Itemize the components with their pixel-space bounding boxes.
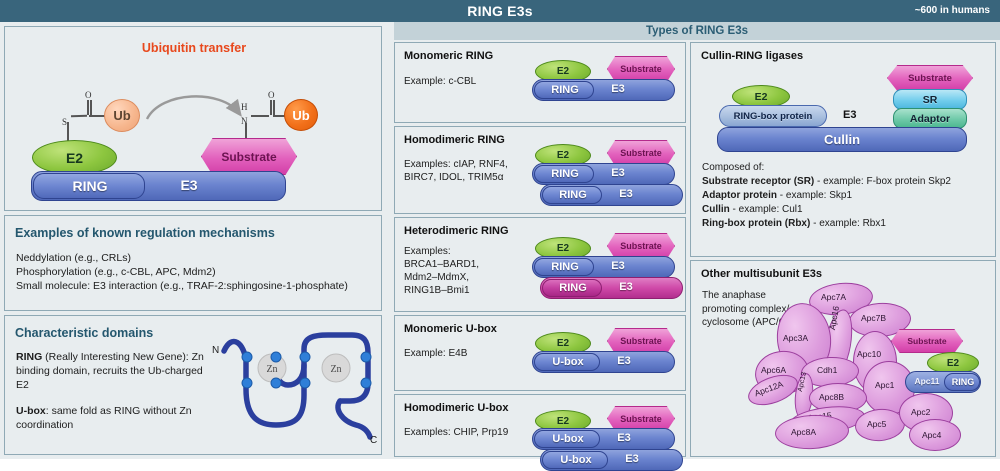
e3-bar-bottom: U-box E3 bbox=[540, 449, 683, 471]
crl-component-1: Adaptor protein - example: Skp1 bbox=[702, 189, 852, 203]
substrate-hexagon: Substrate bbox=[887, 65, 973, 91]
e3-bar-top: RING E3 bbox=[532, 256, 675, 278]
ubox-domain-cap: U-box bbox=[534, 430, 600, 448]
row-title: Monomeric U-box bbox=[404, 323, 497, 335]
row-title: Monomeric RING bbox=[404, 50, 493, 62]
body-label: E3 bbox=[599, 432, 649, 444]
apc-subunit-label: Apc7A bbox=[821, 292, 846, 302]
cullin-ring-ligases-panel: Cullin-RING ligases Substrate SR Adaptor… bbox=[690, 42, 996, 257]
page-title: RING E3s bbox=[0, 0, 1000, 22]
row-examples: Examples: CHIP, Prp19 bbox=[404, 426, 508, 439]
domains-title: Characteristic domains bbox=[15, 326, 153, 340]
component-detail: - example: Rbx1 bbox=[810, 218, 886, 229]
cap-label: U-box bbox=[543, 454, 609, 466]
regulation-item-0: Neddylation (e.g., CRLs) bbox=[16, 251, 131, 265]
bond-c-o-d bbox=[273, 100, 275, 115]
row-title: Homodimeric U-box bbox=[404, 402, 509, 414]
substrate-receptor: SR bbox=[893, 89, 967, 110]
row-examples: Example: E4B bbox=[404, 347, 467, 360]
middle-column: Monomeric RING Example: c-CBL E2 Substra… bbox=[394, 42, 686, 457]
e2-enzyme: E2 bbox=[32, 140, 117, 175]
component-detail: - example: Skp1 bbox=[777, 190, 852, 201]
type-row-monomeric-ubox: Monomeric U-box Example: E4B E2 Substrat… bbox=[394, 315, 686, 391]
transfer-arrow-icon bbox=[143, 89, 253, 129]
ring-definition: RING (Really Interesting New Gene): Zn b… bbox=[16, 350, 206, 392]
right-column: Cullin-RING ligases Substrate SR Adaptor… bbox=[690, 42, 996, 457]
cap-label: RING bbox=[543, 189, 603, 201]
body-label: E3 bbox=[601, 281, 651, 293]
ubox-definition: U-box: same fold as RING without Zn coor… bbox=[16, 404, 211, 432]
ub-donor: Ub bbox=[104, 99, 140, 132]
apc-subunit-label: Apc8B bbox=[819, 392, 844, 402]
e3-bar-top: RING E3 bbox=[532, 163, 675, 185]
left-column: Ubiquitin transfer S O Ub H N O bbox=[4, 26, 382, 455]
component-detail: - example: F-box protein Skp2 bbox=[814, 176, 951, 187]
bond-c-o-b bbox=[90, 100, 92, 115]
regulation-panel: Examples of known regulation mechanisms … bbox=[4, 215, 382, 311]
atom-label-oxygen-donor: O bbox=[85, 90, 92, 100]
cap-label: RING bbox=[535, 168, 595, 180]
apc-subunit-label: Apc5 bbox=[867, 419, 886, 429]
ring-domain-cap: RING bbox=[534, 165, 594, 183]
regulation-item-2: Small molecule: E3 interaction (e.g., TR… bbox=[16, 279, 348, 293]
ubox-term: U-box bbox=[16, 405, 46, 417]
composed-of-header: Composed of: bbox=[702, 161, 764, 175]
apc-description: The anaphase promoting complex/ cyclosom… bbox=[702, 289, 789, 330]
apc-subunit-label: Cdh1 bbox=[817, 365, 837, 375]
type-row-homodimeric-ubox: Homodimeric U-box Examples: CHIP, Prp19 … bbox=[394, 394, 686, 457]
atom-label-hydrogen: H bbox=[241, 102, 248, 112]
e3-bar: U-box E3 bbox=[532, 351, 675, 373]
cullin-label: Cullin bbox=[718, 128, 966, 151]
svg-text:Zn: Zn bbox=[330, 364, 341, 375]
regulation-title: Examples of known regulation mechanisms bbox=[15, 226, 275, 240]
svg-text:N: N bbox=[212, 345, 219, 356]
apc-subunit-label: Apc3A bbox=[783, 333, 808, 343]
crl-component-3: Ring-box protein (Rbx) - example: Rbx1 bbox=[702, 217, 886, 231]
ubox-domain-cap: U-box bbox=[534, 353, 600, 371]
ub-acceptor: Ub bbox=[284, 99, 318, 131]
crl-component-0: Substrate receptor (SR) - example: F-box… bbox=[702, 175, 951, 189]
apc11-label: Apc11 bbox=[906, 376, 948, 386]
body-label: E3 bbox=[593, 83, 643, 95]
ring-domain-cap: RING bbox=[534, 81, 594, 99]
apc-subunit-label: Apc8A bbox=[791, 427, 816, 437]
substrate-hexagon: Substrate bbox=[891, 329, 963, 353]
ring-domain-cap: RING bbox=[944, 373, 980, 391]
ring-label: RING bbox=[34, 178, 146, 194]
type-row-heterodimeric-ring: Heterodimeric RING Examples: BRCA1–BARD1… bbox=[394, 217, 686, 312]
ring-domain-cap: RING bbox=[534, 258, 594, 276]
types-of-ring-e3s-bar: Types of RING E3s bbox=[394, 22, 1000, 40]
ring-fold-diagram-icon: Zn Zn N C bbox=[210, 321, 380, 446]
body-label: E3 bbox=[599, 355, 649, 367]
component-name: Substrate receptor (SR) bbox=[702, 176, 814, 187]
ubox-domain-cap: U-box bbox=[542, 451, 608, 469]
cap-label: RING bbox=[535, 261, 595, 273]
cap-label: RING bbox=[543, 282, 603, 294]
apc-subunit-label: Apc10 bbox=[857, 349, 881, 359]
apc-subunit-label: Apc4 bbox=[922, 430, 941, 440]
ring-domain-cap: RING bbox=[33, 173, 145, 199]
type-row-monomeric-ring: Monomeric RING Example: c-CBL E2 Substra… bbox=[394, 42, 686, 123]
e3-bar: RING E3 bbox=[532, 79, 675, 101]
component-detail: - example: Cul1 bbox=[730, 204, 803, 215]
apc-subunit-label: Apc1 bbox=[875, 380, 894, 390]
e3-label: E3 bbox=[144, 177, 234, 193]
human-count-badge: ~600 in humans bbox=[915, 0, 990, 22]
ring-description: (Really Interesting New Gene): Zn bindin… bbox=[16, 351, 204, 391]
e3-bar-bottom: RING E3 bbox=[540, 184, 683, 206]
ubiquitin-transfer-title: Ubiquitin transfer bbox=[5, 41, 383, 55]
crl-component-2: Cullin - example: Cul1 bbox=[702, 203, 803, 217]
row-examples: Example: c-CBL bbox=[404, 75, 476, 88]
component-name: Adaptor protein bbox=[702, 190, 777, 201]
ring-label: RING bbox=[945, 377, 981, 387]
e3-bar-top: U-box E3 bbox=[532, 428, 675, 450]
characteristic-domains-panel: Characteristic domains RING (Really Inte… bbox=[4, 315, 382, 455]
cullin-scaffold: Cullin bbox=[717, 127, 967, 152]
sr-label: SR bbox=[894, 90, 966, 109]
row-title: Heterodimeric RING bbox=[404, 225, 509, 237]
svg-text:Zn: Zn bbox=[266, 364, 277, 375]
component-name: Ring-box protein (Rbx) bbox=[702, 218, 810, 229]
adaptor-label: Adaptor bbox=[894, 109, 966, 128]
bond-c-o-a bbox=[87, 100, 89, 115]
apc-subunit-label: Apc7B bbox=[861, 313, 886, 323]
crl-e3-label: E3 bbox=[843, 109, 856, 121]
cap-label: U-box bbox=[535, 356, 601, 368]
page-header: RING E3s ~600 in humans bbox=[0, 0, 1000, 22]
e3-bar-bottom: RING E3 bbox=[540, 277, 683, 299]
body-label: E3 bbox=[601, 188, 651, 200]
row-title: Homodimeric RING bbox=[404, 134, 505, 146]
svg-text:C: C bbox=[370, 435, 377, 446]
multisubunit-e3s-panel: Other multisubunit E3s The anaphase prom… bbox=[690, 260, 996, 457]
e3-bar: RING E3 bbox=[31, 171, 286, 201]
body-label: E3 bbox=[593, 167, 643, 179]
ring-box-label: RING-box protein bbox=[720, 106, 826, 126]
multisubunit-title: Other multisubunit E3s bbox=[701, 268, 822, 280]
apc-subunit-label: Apc6A bbox=[761, 365, 786, 375]
ring-box-protein: RING-box protein bbox=[719, 105, 827, 127]
apc-subunit-label: Apc2 bbox=[911, 407, 930, 417]
ring-term: RING bbox=[16, 351, 42, 363]
bond-n-c bbox=[251, 115, 269, 117]
substrate-hexagon: Substrate bbox=[201, 138, 297, 175]
cap-label: U-box bbox=[535, 433, 601, 445]
ubiquitin-transfer-panel: Ubiquitin transfer S O Ub H N O bbox=[4, 26, 382, 211]
type-row-homodimeric-ring: Homodimeric RING Examples: cIAP, RNF4, B… bbox=[394, 126, 686, 214]
bond-c-o-c bbox=[270, 100, 272, 115]
row-examples: Examples: BRCA1–BARD1, Mdm2–MdmX, RING1B… bbox=[404, 245, 479, 297]
atom-label-oxygen-acceptor: O bbox=[268, 90, 275, 100]
cap-label: RING bbox=[535, 84, 595, 96]
body-label: E3 bbox=[607, 453, 657, 465]
row-examples: Examples: cIAP, RNF4, BIRC7, IDOL, TRIM5… bbox=[404, 158, 508, 184]
regulation-item-1: Phosphorylation (e.g., c-CBL, APC, Mdm2) bbox=[16, 265, 216, 279]
apc11-ring-module: Apc11 RING bbox=[905, 371, 981, 393]
infographic-root: RING E3s ~600 in humans Ubiquitin transf… bbox=[0, 0, 1000, 459]
ring-domain-cap: RING bbox=[542, 186, 602, 204]
component-name: Cullin bbox=[702, 204, 730, 215]
adaptor-protein: Adaptor bbox=[893, 108, 967, 129]
crl-title: Cullin-RING ligases bbox=[701, 50, 803, 62]
body-label: E3 bbox=[593, 260, 643, 272]
bond-s-c bbox=[71, 115, 87, 117]
ring-domain-cap: RING bbox=[542, 279, 602, 297]
